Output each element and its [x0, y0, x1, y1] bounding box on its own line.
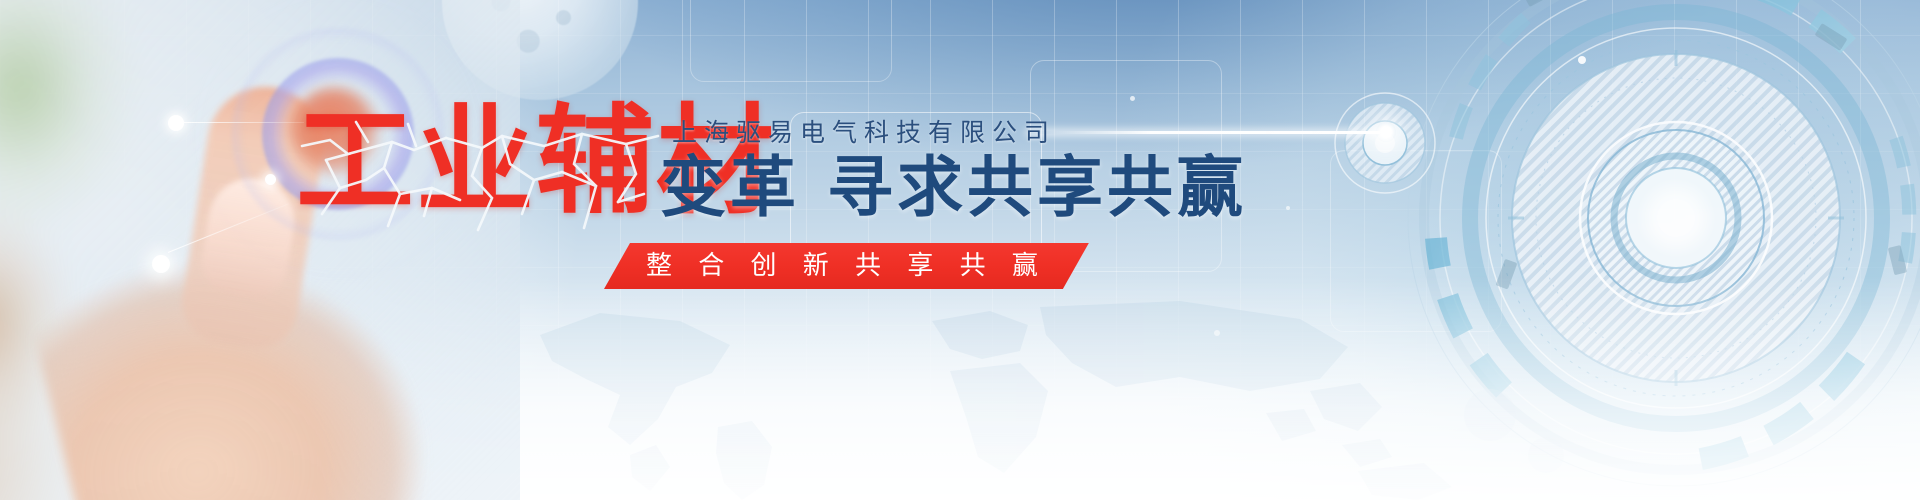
speck-dot-icon — [1130, 96, 1135, 101]
node-dot-icon — [265, 174, 276, 185]
node-dot-icon — [168, 115, 184, 131]
speck-dot-icon — [1286, 206, 1290, 210]
ribbon-label: 整 合 创 新 共 享 共 赢 — [646, 253, 1047, 279]
hero-banner: 工业辅材 上海驱易电气科技有限公司 变革 — [0, 0, 1920, 500]
node-dot-icon — [152, 255, 170, 273]
banner-slogan: 变革 寻求共享共赢 — [660, 155, 1247, 221]
hand-touch-photo — [0, 0, 520, 500]
speck-dot-icon — [1214, 330, 1220, 336]
ribbon-banner: 整 合 创 新 共 享 共 赢 — [604, 243, 1089, 289]
company-name: 上海驱易电气科技有限公司 — [672, 120, 1056, 145]
connector-thread — [184, 122, 304, 123]
